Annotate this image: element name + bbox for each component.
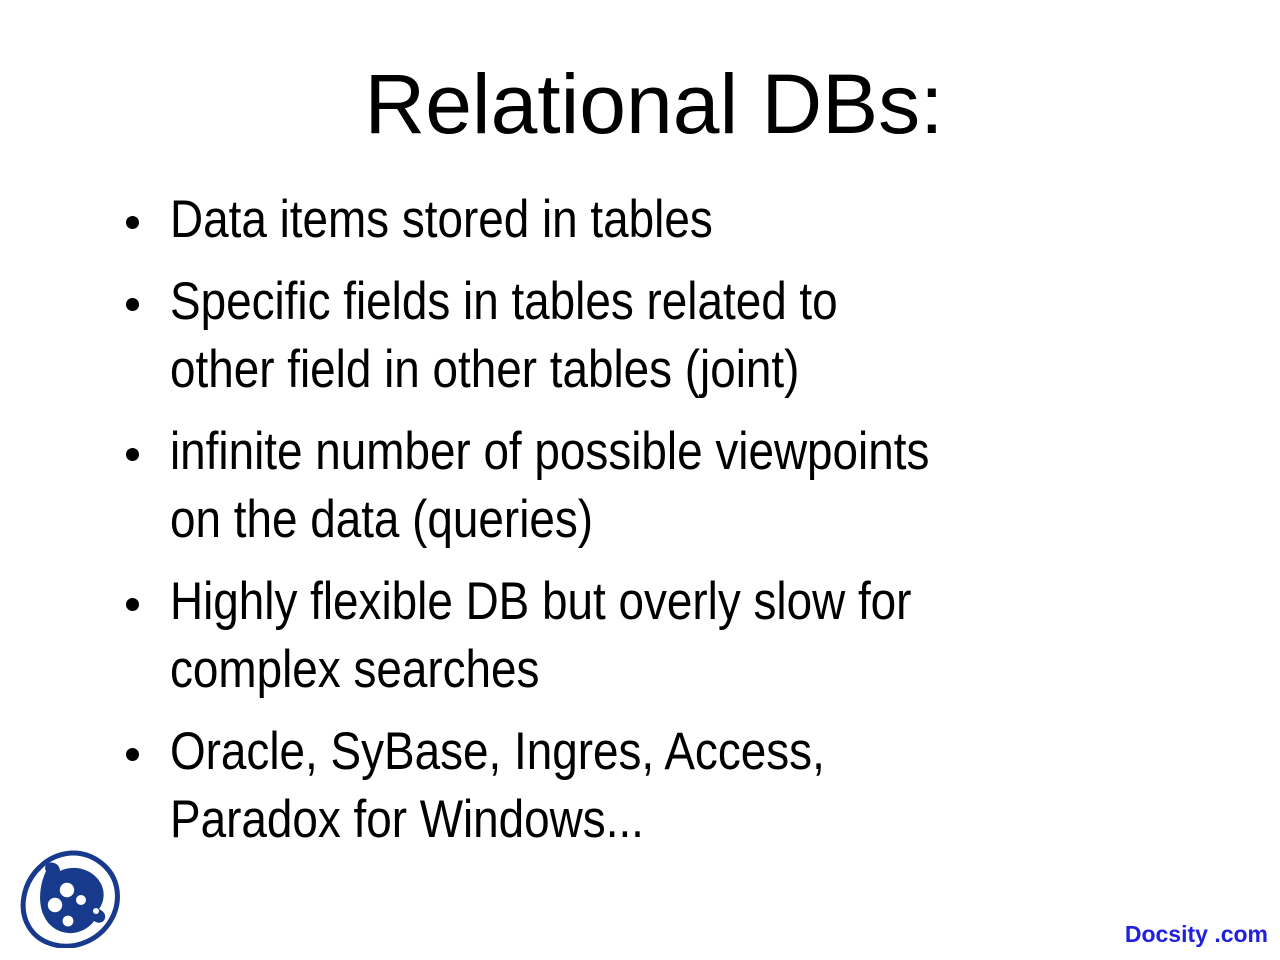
list-item: Oracle, SyBase, Ingres, Access, Paradox … — [118, 718, 1178, 854]
page-title: Relational DBs: — [0, 56, 1280, 152]
slide-canvas: Relational DBs: Data items stored in tab… — [0, 0, 1280, 960]
docsity-wordmark[interactable]: Docsity .com — [1125, 921, 1268, 947]
list-item-label: Highly flexible DB but overly slow for c… — [170, 568, 1042, 704]
list-item-label: Specific fields in tables related to oth… — [170, 268, 1042, 404]
list-item: Data items stored in tables — [118, 186, 1178, 254]
list-item-label: Data items stored in tables — [170, 186, 1042, 254]
list-item: Highly flexible DB but overly slow for c… — [118, 568, 1178, 704]
docsity-logo-icon — [20, 850, 122, 948]
bullet-list: Data items stored in tables Specific fie… — [118, 186, 1178, 854]
list-item-label: Oracle, SyBase, Ingres, Access, Paradox … — [170, 718, 1042, 854]
list-item: Specific fields in tables related to oth… — [118, 268, 1178, 404]
list-item: infinite number of possible viewpoints o… — [118, 418, 1178, 554]
list-item-label: infinite number of possible viewpoints o… — [170, 418, 1042, 554]
